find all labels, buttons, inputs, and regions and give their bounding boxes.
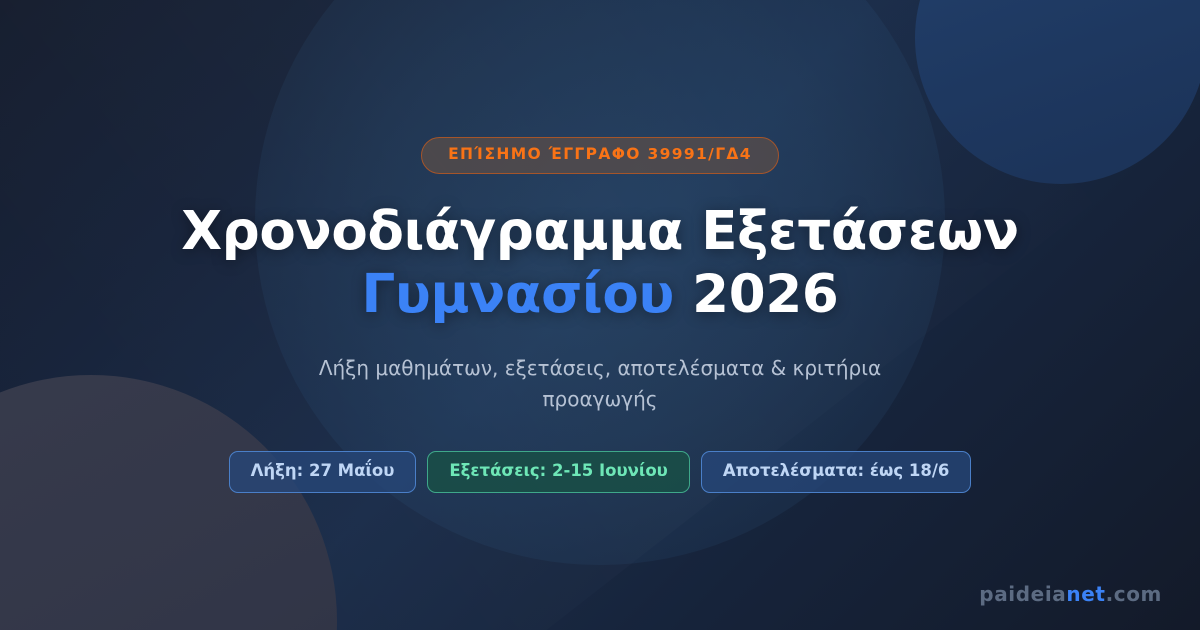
page-title: Χρονοδιάγραμμα Εξετάσεων Γυμνασίου 2026 [181,201,1019,326]
brand-suffix: .com [1106,582,1162,606]
brand-watermark: paideianet.com [979,584,1162,604]
page-title-line1: Χρονοδιάγραμμα Εξετάσεων [181,201,1019,262]
hero-card: ΕΠΊΣΗΜΟ ΈΓΓΡΑΦΟ 39991/ΓΔ4 Χρονοδιάγραμμα… [0,0,1200,630]
pill-exams-period: Εξετάσεις: 2-15 Ιουνίου [427,451,689,493]
page-title-accent: Γυμνασίου [362,264,675,325]
hero-content: ΕΠΊΣΗΜΟ ΈΓΓΡΑΦΟ 39991/ΓΔ4 Χρονοδιάγραμμα… [0,0,1200,630]
brand-prefix: paideia [979,582,1066,606]
info-pill-row: Λήξη: 27 Μαΐου Εξετάσεις: 2-15 Ιουνίου Α… [229,451,972,493]
page-title-year: 2026 [692,264,838,325]
official-document-badge: ΕΠΊΣΗΜΟ ΈΓΓΡΑΦΟ 39991/ΓΔ4 [421,137,779,174]
page-subtitle: Λήξη μαθημάτων, εξετάσεις, αποτελέσματα … [270,353,930,415]
pill-lesson-end: Λήξη: 27 Μαΐου [229,451,417,493]
brand-accent: net [1066,582,1105,606]
pill-results-date: Αποτελέσματα: έως 18/6 [701,451,972,493]
